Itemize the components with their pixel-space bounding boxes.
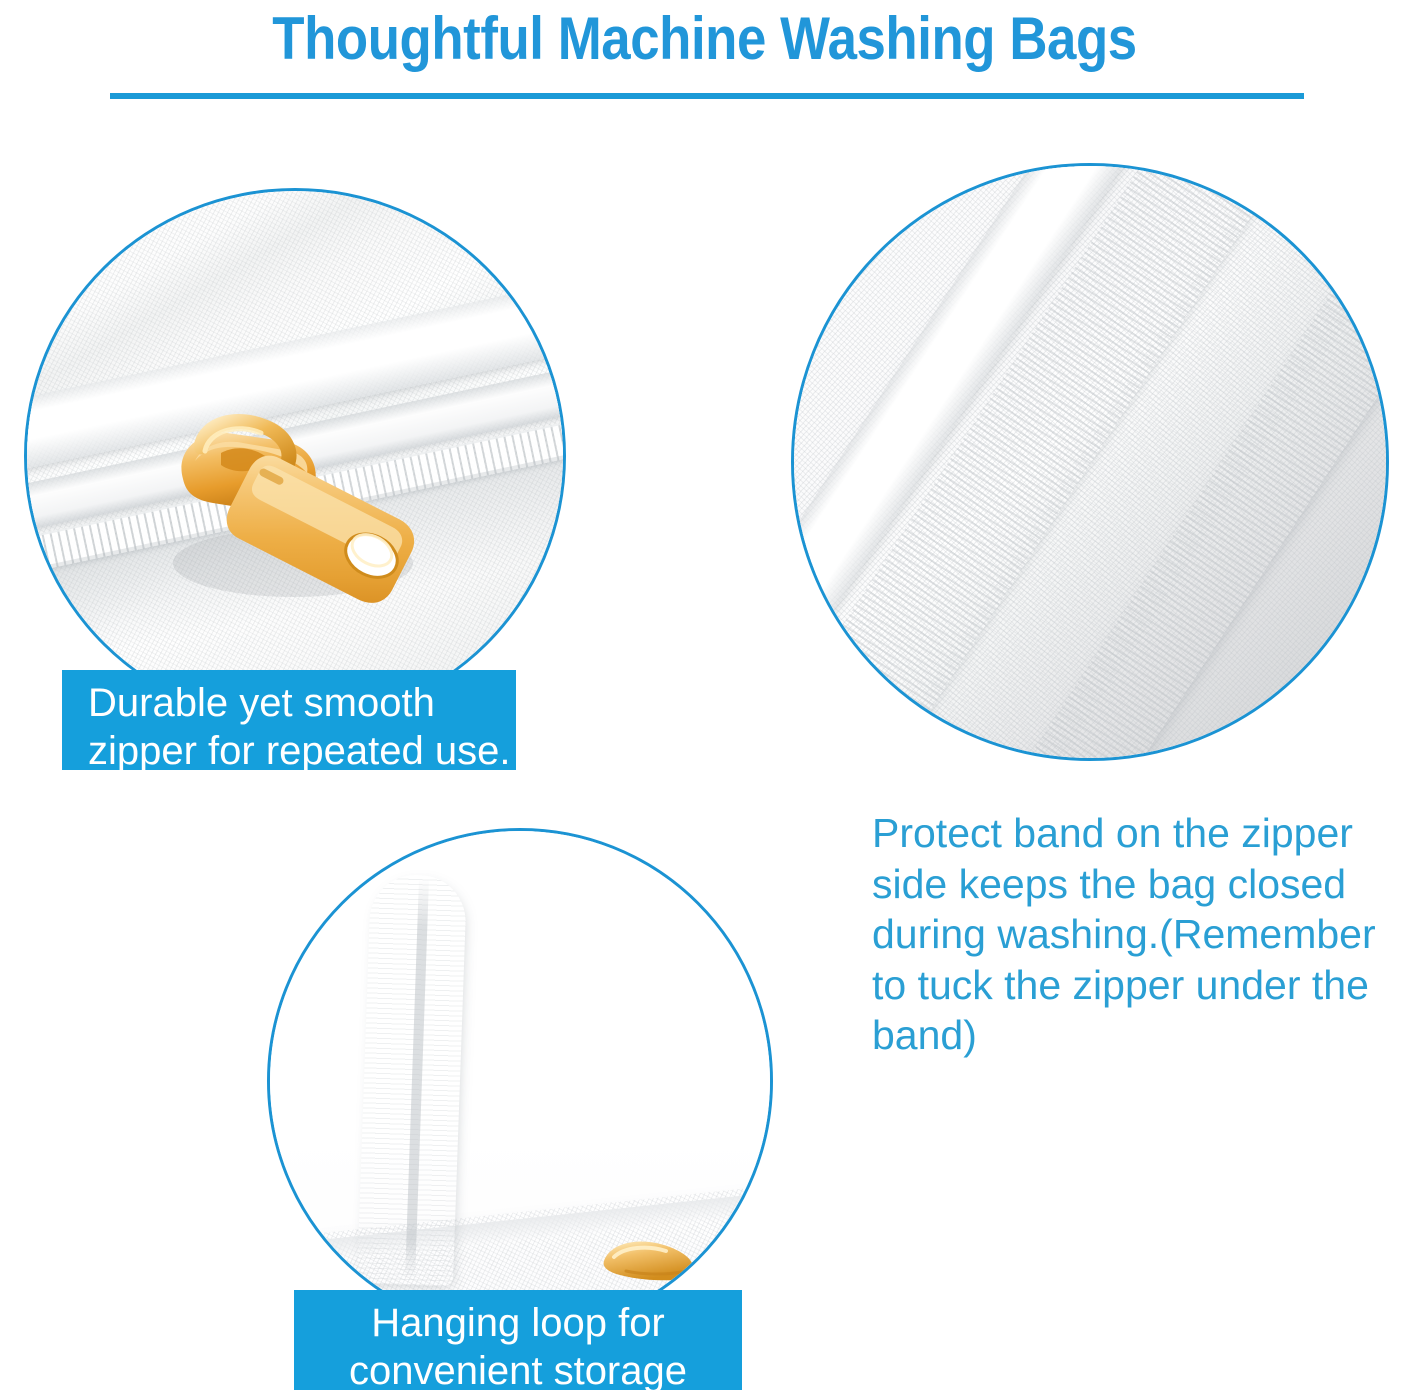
- caption-hanging-loop: Hanging loop for convenient storage: [294, 1290, 742, 1390]
- caption-band-line-4: to tuck the zipper under the: [872, 960, 1409, 1011]
- product-infographic: Thoughtful Machine Washing Bags: [0, 0, 1409, 1390]
- caption-band-line-5: band): [872, 1010, 1409, 1061]
- caption-band-line-2: side keeps the bag closed: [872, 859, 1409, 910]
- title-divider: [110, 93, 1304, 99]
- zipper-photo-background: [24, 188, 566, 724]
- caption-loop-line-1: Hanging loop for: [294, 1299, 742, 1347]
- caption-zipper-line-2: zipper for repeated use.: [88, 727, 516, 775]
- page-title: Thoughtful Machine Washing Bags: [85, 2, 1325, 76]
- caption-zipper: Durable yet smooth zipper for repeated u…: [62, 670, 516, 770]
- hanging-loop-photo-background: [267, 828, 773, 1334]
- caption-band-line-3: during washing.(Remember: [872, 909, 1409, 960]
- protect-band-photo-background: [791, 163, 1389, 761]
- caption-band-line-1: Protect band on the zipper: [872, 808, 1409, 859]
- caption-zipper-line-1: Durable yet smooth: [88, 679, 516, 727]
- feature-image-protect-band: [791, 163, 1389, 761]
- feature-image-zipper: [24, 188, 566, 724]
- caption-loop-line-2: convenient storage: [294, 1347, 742, 1390]
- caption-protect-band: Protect band on the zipper side keeps th…: [872, 808, 1409, 1061]
- gold-zipper-pull-icon: [596, 1231, 716, 1287]
- feature-image-hanging-loop: [267, 828, 773, 1334]
- gold-zipper-pull-icon: [143, 387, 443, 647]
